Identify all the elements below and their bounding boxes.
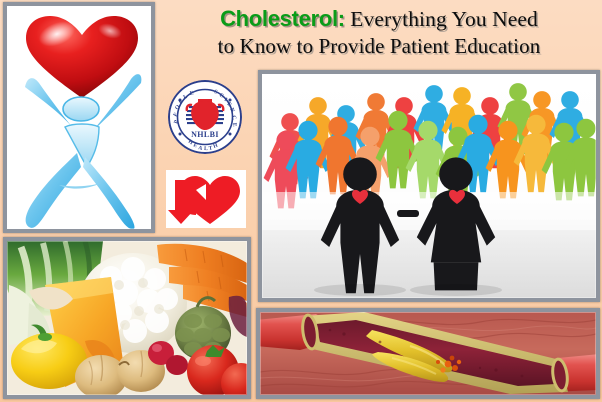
- panel-heart-arrow-logo: [166, 170, 246, 228]
- heart-down-arrow-icon: [166, 170, 246, 228]
- poster: Cholesterol: Everything You Need to Know…: [0, 0, 602, 402]
- title-line-1: Cholesterol: Everything You Need: [158, 5, 600, 33]
- panel-paper-people: [258, 70, 600, 302]
- svg-text:E: E: [231, 123, 237, 128]
- title-line-2: to Know to Provide Patient Education: [158, 33, 600, 60]
- page-title: Cholesterol: Everything You Need to Know…: [158, 2, 600, 62]
- nhlbi-seal-logo: P E O P L E S C I E N C E H E A L T H NH…: [168, 80, 242, 154]
- svg-text:E: E: [189, 90, 194, 97]
- title-line-1-rest: Everything You Need: [345, 7, 538, 31]
- title-keyword: Cholesterol:: [220, 6, 345, 31]
- blue-human-figure-icon: [15, 61, 149, 229]
- artery-cross-section-illustration: [260, 312, 596, 395]
- panel-heart-figure: [3, 2, 155, 233]
- panel-vegetables: [3, 237, 251, 399]
- paper-people-illustration: [262, 74, 596, 298]
- nhlbi-acronym: NHLBI: [191, 130, 219, 139]
- vegetables-illustration: [7, 241, 247, 395]
- panel-artery: [256, 308, 600, 399]
